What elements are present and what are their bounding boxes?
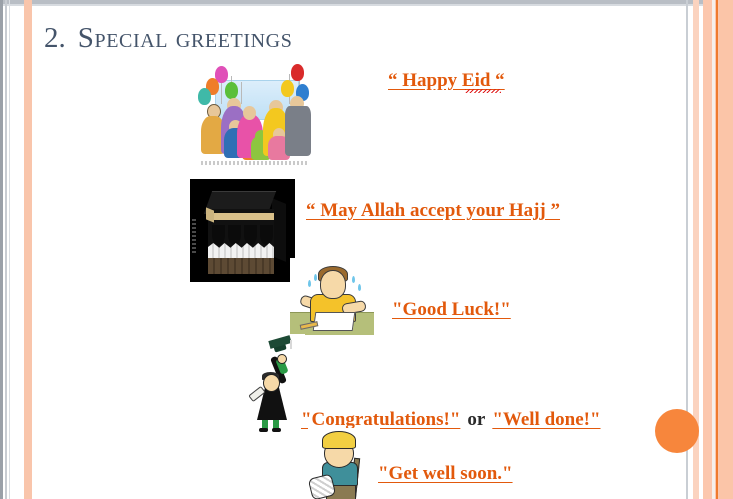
balloon-red [291,64,304,81]
left-border-stripe-peach [24,0,32,499]
slide-title-number: 2. [44,22,66,54]
right-border-stripe-white [712,0,715,499]
student-head [320,270,346,299]
caption-well-done: "Well done!" [492,409,600,430]
balloon-teal [198,88,211,105]
caption-accept-hajj: “ May Allah accept your Hajj ” [306,200,560,222]
kaaba-photo [190,179,295,282]
kaaba-gold-band [208,213,274,220]
injured-boy-crutches-clipart [308,428,380,499]
kaaba-stone-base [208,258,274,274]
caption-good-luck: "Good Luck!" [392,299,511,321]
decorative-orange-circle [655,409,699,453]
left-border-stripe-gray-light [5,0,7,499]
photo-watermark [192,219,196,253]
caption-congratulations: "Congratulations!" [301,409,460,430]
graduate-clipart [245,334,305,432]
slide-title: 2.Special greetings [44,24,292,53]
boy-hair [322,431,356,449]
balloon-yellow [281,80,294,97]
slide-title-text: Special greetings [78,22,293,54]
eid-family-celebration-clipart [193,62,318,166]
caption-get-well-soon: "Get well soon." [378,463,513,485]
graduate-head [263,374,280,392]
spellcheck-underline-icon [465,89,501,93]
student-exam-clipart [290,258,374,335]
caption-conjunction-or: or [467,409,485,430]
top-border-stripe-light [0,4,733,6]
leg-cast [308,473,336,499]
right-border-stripe-peach-outer [719,0,733,499]
graduate-hand [277,354,287,364]
right-border-stripe-orange [716,0,718,499]
mortarboard-tassel [290,340,292,349]
exam-paper [313,312,356,331]
left-border-stripe-hairline [9,0,10,499]
kaaba-side-face [272,198,286,262]
clipart-watermark [201,161,309,165]
left-border-stripe-gray [0,0,3,499]
balloon-green [225,82,238,99]
presentation-slide: 2.Special greetings “ [0,0,733,499]
